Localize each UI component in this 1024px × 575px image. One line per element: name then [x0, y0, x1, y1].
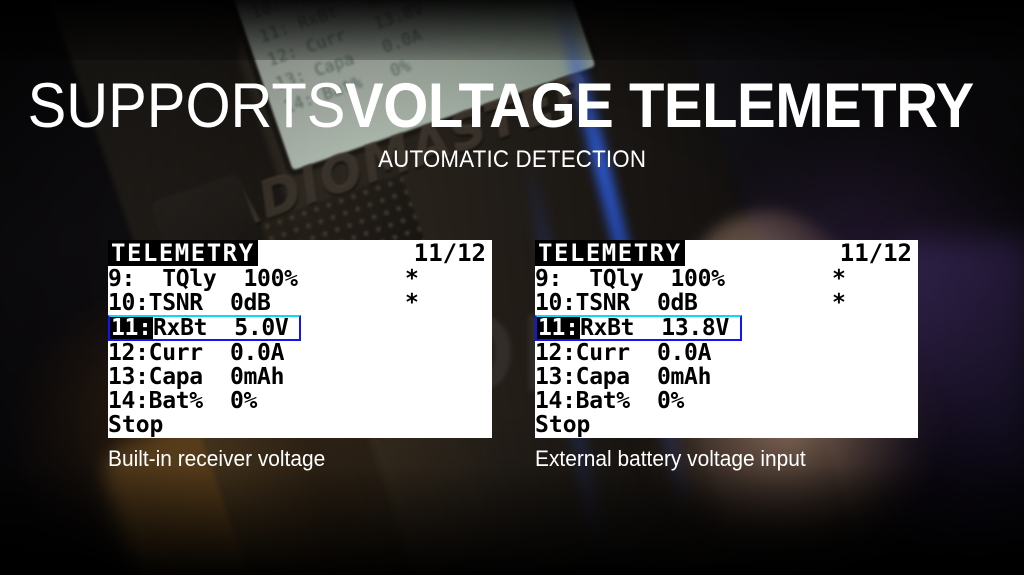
lcd-row-text: Bat% 0%: [576, 389, 684, 413]
lcd-row-text: TSNR 0dB: [576, 291, 698, 315]
lcd-row-alert-marker: *: [405, 267, 419, 291]
lcd-row-text: TQly 100%: [149, 267, 298, 291]
banner-stage: 11: TQly 10: TSNR 100% 11: RxBt 0dB 12: …: [0, 0, 1024, 575]
lcd-row-text: Curr 0.0A: [149, 341, 284, 365]
lcd-title: TELEMETRY: [108, 240, 258, 266]
lcd-page-indicator: 11/12: [840, 240, 912, 266]
caption-left: Built-in receiver voltage: [108, 446, 337, 472]
lcd-header: TELEMETRY11/12: [535, 240, 918, 267]
lcd-row-text: Curr 0.0A: [576, 341, 711, 365]
lcd-row-index: 9:: [108, 267, 149, 291]
lcd-row-index: 12:: [535, 341, 576, 365]
caption-right: External battery voltage input: [535, 446, 820, 472]
bottom-vignette: [0, 465, 1024, 575]
lcd-row-alert-marker: *: [832, 291, 846, 315]
lcd-row-text: Bat% 0%: [149, 389, 257, 413]
lcd-row[interactable]: 12:Curr 0.0A: [535, 341, 918, 365]
lcd-row-alert-marker: *: [405, 291, 419, 315]
lcd-row-index: 14:: [535, 389, 576, 413]
lcd-footer[interactable]: Stop: [535, 413, 918, 437]
lcd-row-text: RxBt 5.0V: [153, 317, 288, 339]
caption-right-text: External battery voltage input: [535, 446, 806, 472]
lcd-header: TELEMETRY11/12: [108, 240, 492, 267]
subheadline-text: AUTOMATIC DETECTION: [378, 146, 646, 174]
lcd-row-index: 13:: [108, 365, 149, 389]
caption-left-text: Built-in receiver voltage: [108, 446, 325, 472]
lcd-row-selected[interactable]: 11:RxBt 5.0V: [108, 315, 492, 341]
lcd-row-index: 12:: [108, 341, 149, 365]
lcd-row-index-inverted: 11:: [110, 317, 153, 339]
headline: SUPPORTS VOLTAGE TELEMETRY: [0, 70, 1024, 142]
lcd-row[interactable]: 10:TSNR 0dB*: [108, 291, 492, 315]
lcd-row-text: TSNR 0dB: [149, 291, 271, 315]
lcd-row-index: 14:: [108, 389, 149, 413]
lcd-row-selected[interactable]: 11:RxBt 13.8V: [535, 315, 918, 341]
lcd-row[interactable]: 9: TQly 100%*: [535, 267, 918, 291]
lcd-title: TELEMETRY: [535, 240, 685, 266]
headline-bold-part: VOLTAGE TELEMETRY: [345, 70, 974, 142]
lcd-row-index: 10:: [535, 291, 576, 315]
lcd-row-index: 9:: [535, 267, 576, 291]
lcd-row[interactable]: 10:TSNR 0dB*: [535, 291, 918, 315]
lcd-row[interactable]: 14:Bat% 0%: [535, 389, 918, 413]
top-vignette: [0, 0, 1024, 60]
lcd-row-text: RxBt 13.8V: [580, 317, 729, 339]
lcd-row-index: 13:: [535, 365, 576, 389]
lcd-row-text: TQly 100%: [576, 267, 725, 291]
lcd-row[interactable]: 14:Bat% 0%: [108, 389, 492, 413]
lcd-page-indicator: 11/12: [414, 240, 486, 266]
lcd-footer[interactable]: Stop: [108, 413, 492, 437]
lcd-row-list: 9: TQly 100%*10:TSNR 0dB*11:RxBt 13.8V12…: [535, 267, 918, 413]
lcd-row-index-inverted: 11:: [537, 317, 580, 339]
lcd-row[interactable]: 9: TQly 100%*: [108, 267, 492, 291]
lcd-row-alert-marker: *: [832, 267, 846, 291]
lcd-row-list: 9: TQly 100%*10:TSNR 0dB*11:RxBt 5.0V12:…: [108, 267, 492, 413]
subheadline: AUTOMATIC DETECTION: [0, 146, 1024, 174]
lcd-row-index: 10:: [108, 291, 149, 315]
lcd-row[interactable]: 13:Capa 0mAh: [108, 365, 492, 389]
telemetry-screen-left: TELEMETRY11/129: TQly 100%*10:TSNR 0dB*1…: [108, 240, 492, 438]
lcd-row[interactable]: 12:Curr 0.0A: [108, 341, 492, 365]
lcd-row-text: Capa 0mAh: [576, 365, 711, 389]
headline-light-part: SUPPORTS: [28, 70, 346, 142]
telemetry-screen-right: TELEMETRY11/129: TQly 100%*10:TSNR 0dB*1…: [535, 240, 918, 438]
lcd-row[interactable]: 13:Capa 0mAh: [535, 365, 918, 389]
lcd-row-text: Capa 0mAh: [149, 365, 284, 389]
